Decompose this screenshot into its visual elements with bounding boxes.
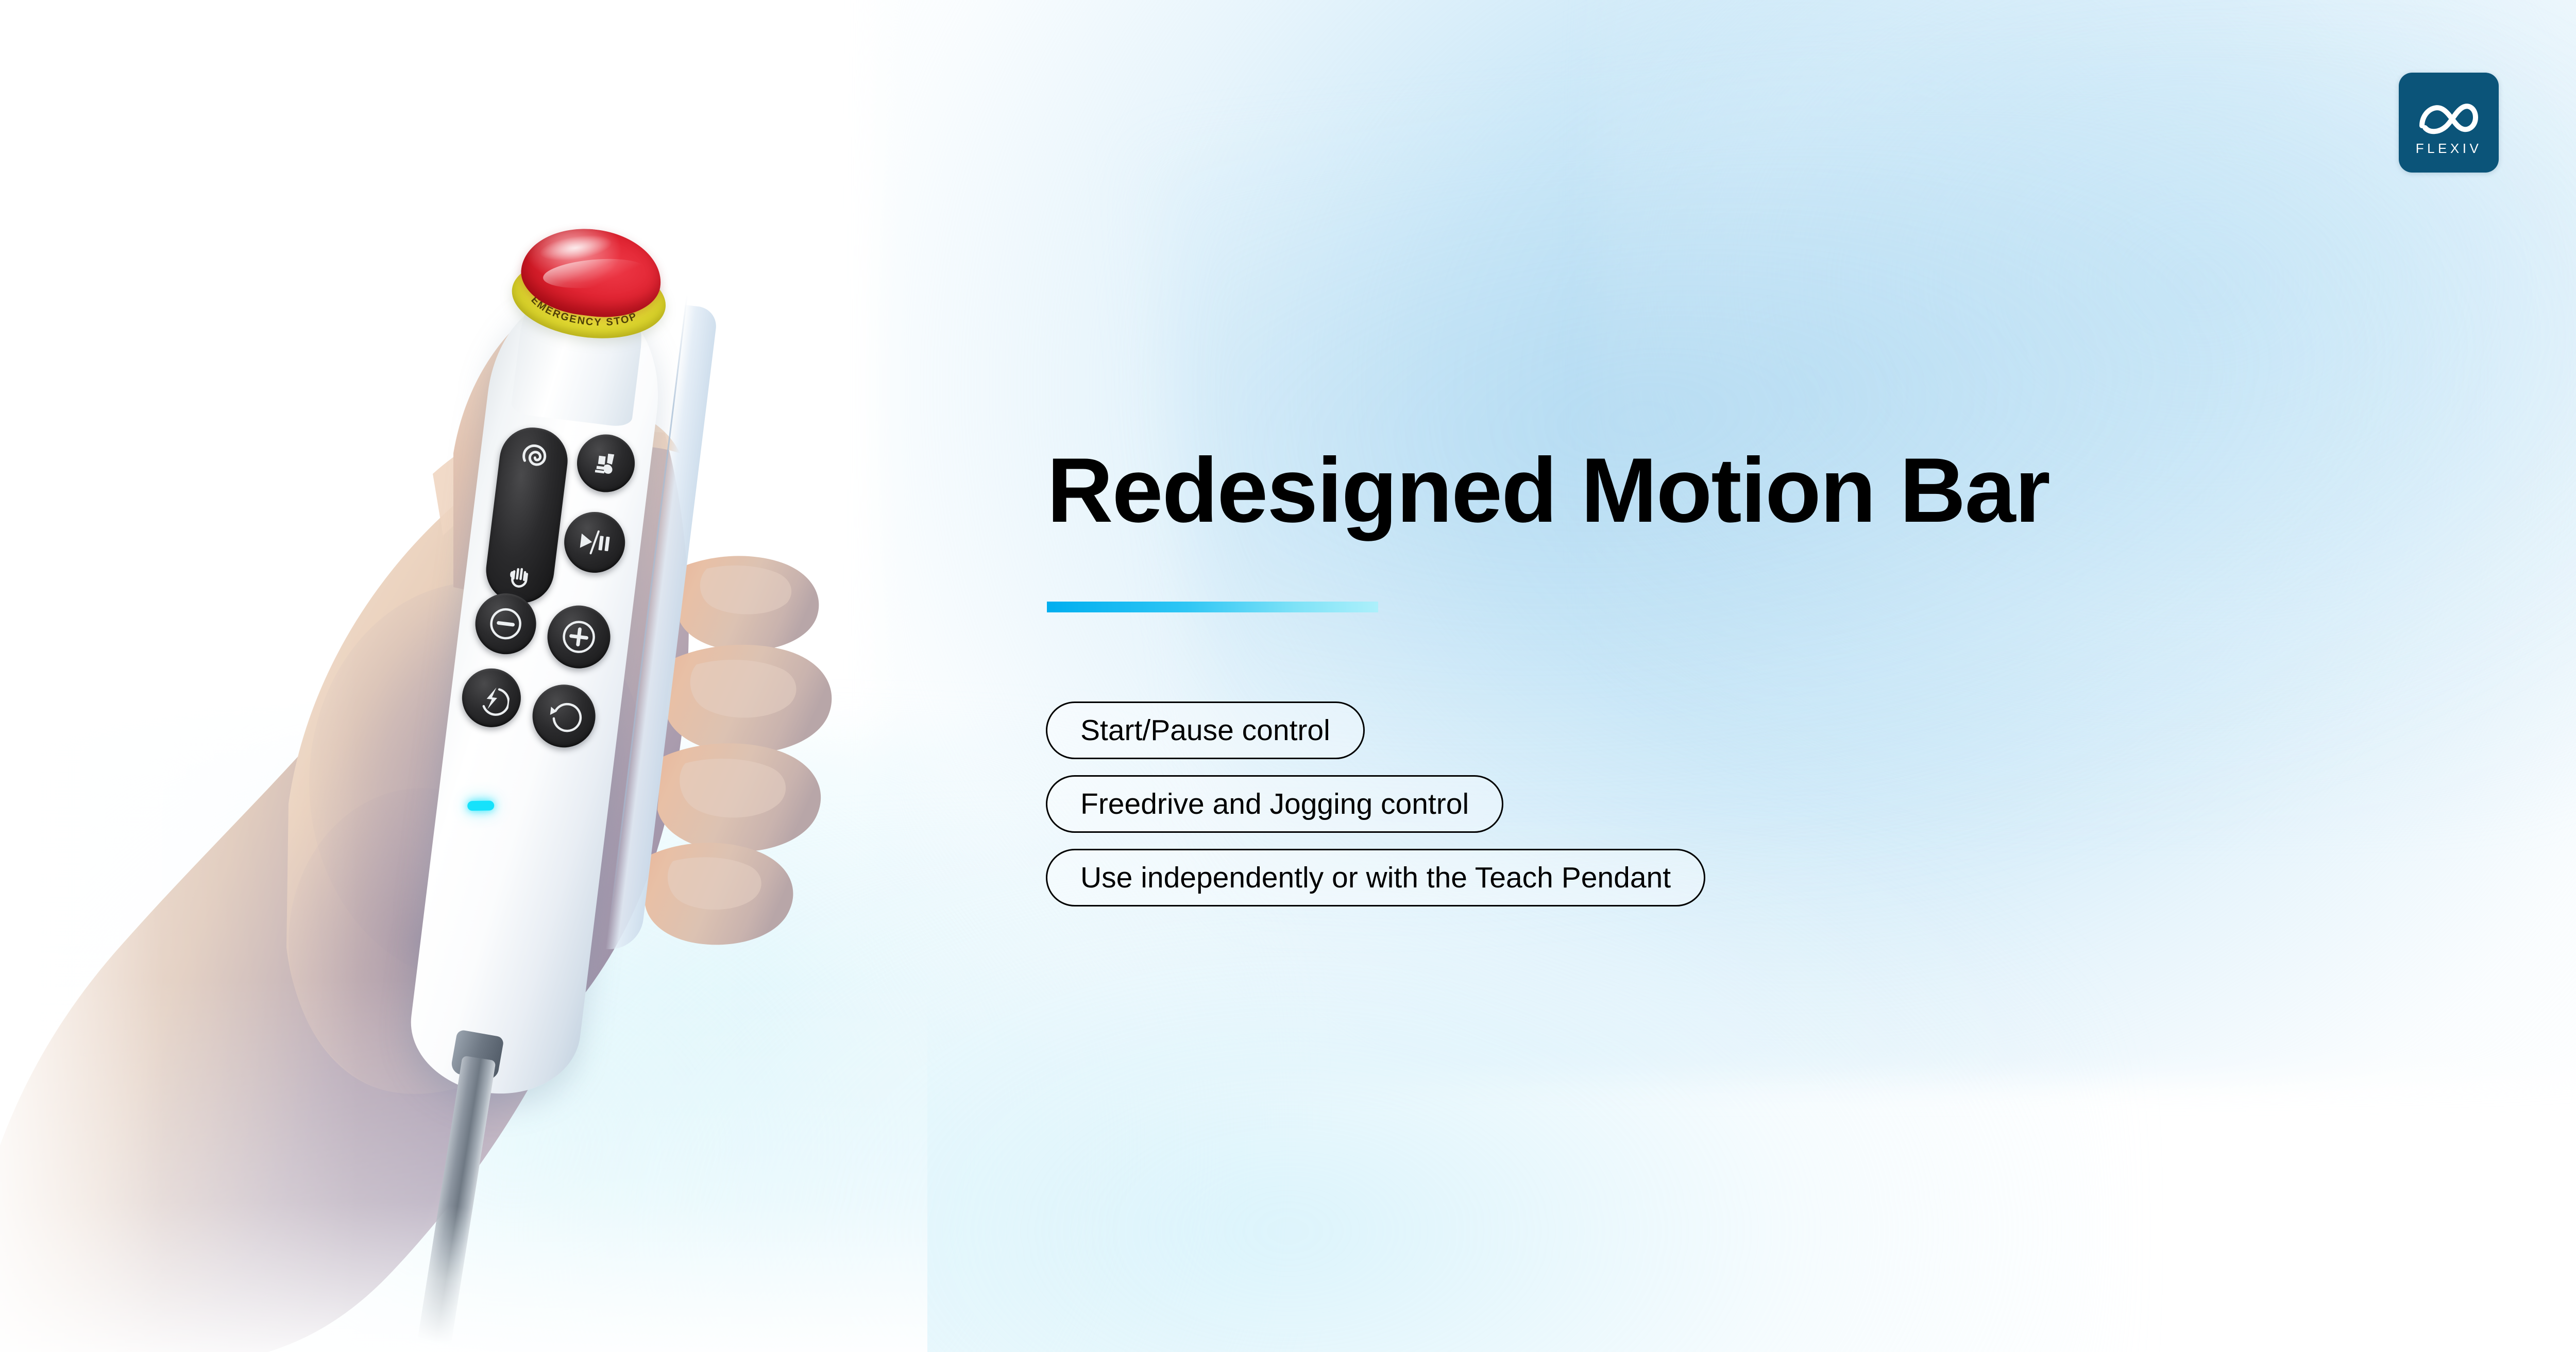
accent-underline [1047, 602, 1378, 612]
play-pause-icon [575, 527, 614, 558]
status-led [467, 800, 494, 811]
feature-pill-teach-pendant[interactable]: Use independently or with the Teach Pend… [1046, 849, 1705, 906]
nail-pinky [668, 857, 761, 910]
nail-middle [690, 660, 796, 717]
flexiv-infinity-icon [2416, 97, 2482, 137]
slide-canvas: EMERGENCY STOP [0, 0, 2576, 1352]
plus-circle-icon [557, 615, 600, 658]
reset-loop-icon [543, 695, 585, 737]
lightning-circle-icon [471, 678, 512, 718]
minus-circle-icon [485, 603, 527, 644]
emergency-stop-groove [542, 255, 647, 292]
hand-icon [504, 560, 535, 591]
nail-ring [680, 759, 786, 817]
teach-hand-icon [589, 447, 623, 480]
feature-pill-freedrive-jogging[interactable]: Freedrive and Jogging control [1046, 775, 1503, 833]
flexiv-logo[interactable]: FLEXIV [2399, 73, 2499, 173]
spiral-icon [517, 439, 551, 473]
feature-pill-start-pause[interactable]: Start/Pause control [1046, 701, 1365, 759]
flexiv-wordmark: FLEXIV [2399, 142, 2499, 155]
feature-list: Start/Pause control Freedrive and Joggin… [1046, 701, 1705, 906]
page-title: Redesigned Motion Bar [1047, 444, 2049, 536]
photo-fade-left [0, 0, 361, 1352]
